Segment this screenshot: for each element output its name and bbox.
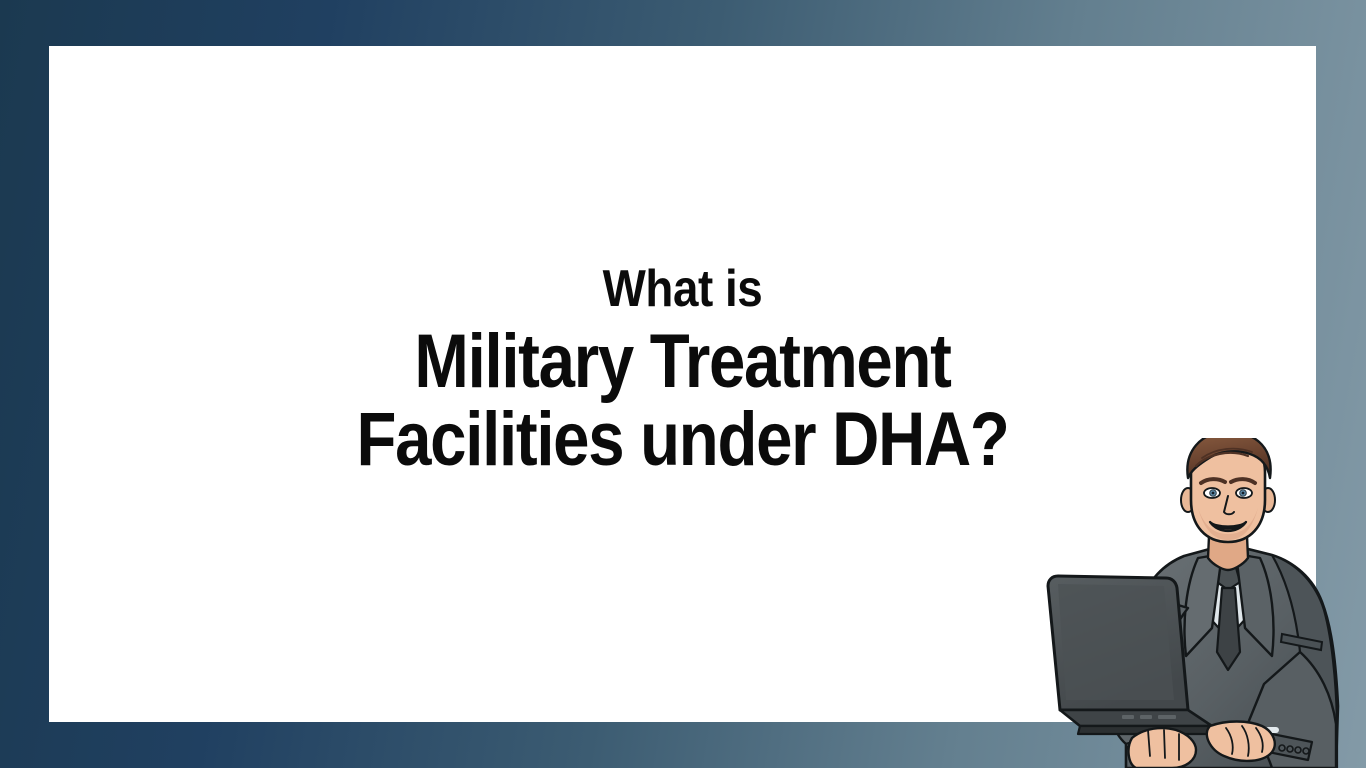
slide-eyebrow-text: What is: [125, 259, 1240, 319]
slide-headline-line-1: Military Treatment: [138, 323, 1228, 401]
slide-headline-line-2: Facilities under DHA?: [138, 401, 1228, 479]
right-hand: [1207, 722, 1275, 761]
left-hand: [1129, 728, 1196, 768]
slide-title-block: What is Military Treatment Facilities un…: [49, 46, 1316, 479]
presentation-slide: What is Military Treatment Facilities un…: [0, 0, 1366, 768]
slide-content-panel: What is Military Treatment Facilities un…: [49, 46, 1316, 722]
